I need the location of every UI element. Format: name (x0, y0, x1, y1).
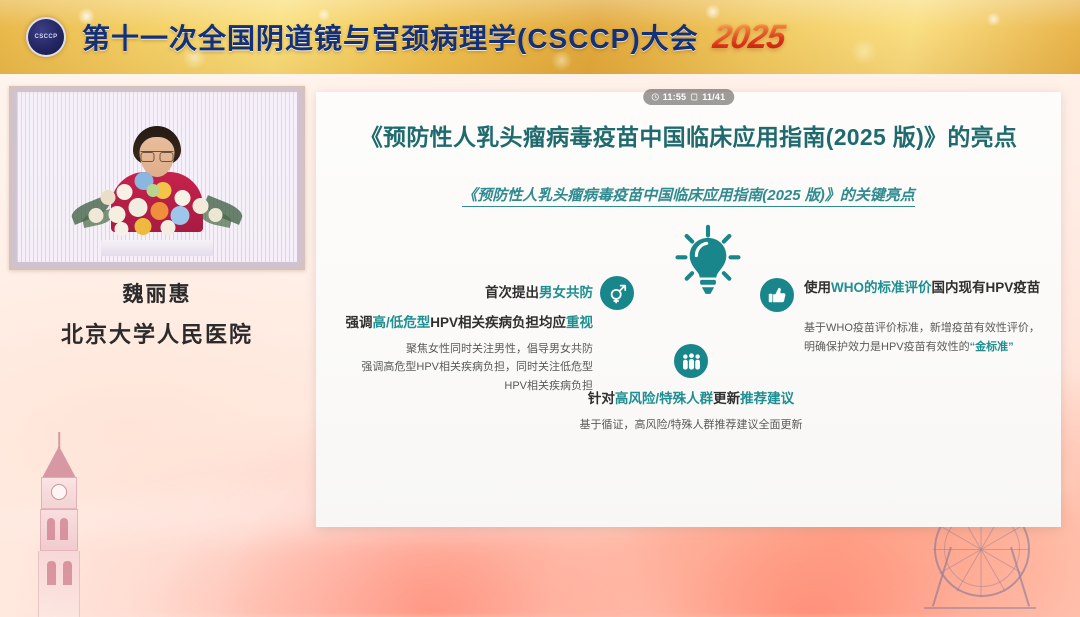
ferris-spoke (981, 550, 982, 598)
slide-title: 《预防性人乳头瘤病毒疫苗中国临床应用指南(2025 版)》的亮点 (316, 118, 1061, 152)
logo-label: CSCCP (34, 34, 57, 41)
speaker-name: 魏丽惠 (9, 278, 305, 308)
conference-banner: CSCCP 第十一次全国阴道镜与宫颈病理学(CSCCP)大会 2025 (0, 0, 1080, 74)
point-1-line2-c: HPV相关疾病负担均应 (430, 315, 566, 330)
ferris-spoke (933, 549, 981, 550)
slide-page-counter: 11/41 (702, 92, 725, 102)
point-2-sub-b: “金标准” (970, 341, 1014, 353)
point-3-head-b: 高风险/特殊人群 (615, 391, 713, 406)
flower-blossom (175, 190, 191, 206)
point-3-sub-line-1: 基于循证，高风险/特殊人群推荐建议全面更新 (531, 416, 851, 435)
video-backdrop-screen (17, 92, 297, 262)
point-2-head-c: 国内现有HPV疫苗 (932, 280, 1041, 295)
speaker-video[interactable] (9, 86, 305, 270)
point-high-risk-special-population: 针对高风险/特殊人群更新推荐建议 基于循证，高风险/特殊人群推荐建议全面更新 (531, 344, 851, 434)
lightbulb-icon (668, 222, 748, 300)
point-1-line2-d: 重视 (566, 315, 593, 330)
point-2-sub-line-1: 基于WHO疫苗评价标准，新增疫苗有效性评价， (804, 319, 1055, 338)
tower-window (63, 561, 72, 585)
point-2-head-b: WHO的标准评价 (831, 280, 932, 295)
slide-subtitle-text: 《预防性人乳头瘤病毒疫苗中国临床应用指南(2025 版)》的关键亮点 (462, 187, 915, 207)
speaker-glasses (141, 151, 174, 159)
speaker-figure (126, 126, 188, 166)
ferris-base (924, 607, 1036, 609)
point-2-head-a: 使用 (804, 280, 831, 295)
page-icon (690, 93, 698, 101)
point-1-line2-b: 高/低危型 (372, 315, 430, 330)
flower-blossom (209, 208, 223, 222)
tower-window (47, 561, 56, 585)
three-people-icon (674, 344, 708, 378)
speaker-info: 魏丽惠 北京大学人民医院 (9, 278, 305, 349)
ferris-spoke (981, 549, 1029, 550)
tower-window (60, 518, 68, 540)
flower-blossom (135, 218, 152, 235)
point-2-headline: 使用WHO的标准评价国内现有HPV疫苗 (804, 278, 1040, 298)
point-1-line2-a: 强调 (345, 315, 372, 330)
point-3-headline: 针对高风险/特殊人群更新推荐建议 (531, 389, 851, 409)
clock-icon (651, 93, 659, 101)
flower-blossom (129, 198, 148, 217)
point-1-headline-line-2: 强调高/低危型HPV相关疾病负担均应重视 (324, 313, 634, 333)
slide-progress-badge: 11:55 11/41 (643, 89, 735, 105)
point-3-description: 基于循证，高风险/特殊人群推荐建议全面更新 (531, 416, 851, 435)
tower-base-stage (38, 551, 80, 617)
slide-elapsed-time: 11:55 (663, 92, 687, 102)
tower-clock-face (51, 484, 67, 500)
flower-blossom (115, 222, 129, 236)
conference-title: 第十一次全国阴道镜与宫颈病理学(CSCCP)大会 (82, 17, 699, 57)
tower-roof (42, 446, 76, 478)
point-1-head-b: 男女共防 (539, 285, 593, 300)
speaker-organization: 北京大学人民医院 (9, 317, 305, 349)
live-stream-screen: CSCCP 第十一次全国阴道镜与宫颈病理学(CSCCP)大会 2025 (0, 0, 1080, 617)
flower-blossom (117, 184, 133, 200)
flower-blossom (89, 208, 104, 223)
slide-subtitle: 《预防性人乳头瘤病毒疫苗中国临床应用指南(2025 版)》的关键亮点 (316, 184, 1061, 205)
point-3-head-c: 更新 (713, 391, 740, 406)
flower-blossom (161, 220, 176, 235)
point-1-headline-line-1: 首次提出男女共防 (485, 283, 593, 303)
point-3-head-d: 推荐建议 (740, 391, 794, 406)
thumbs-up-icon (760, 278, 794, 312)
csccp-logo-icon: CSCCP (26, 17, 66, 57)
flower-blossom (101, 190, 116, 205)
clock-tower-illustration (38, 432, 80, 617)
flower-blossom (151, 202, 169, 220)
point-1-head-a: 首次提出 (485, 285, 539, 300)
presentation-slide[interactable]: 11:55 11/41 《预防性人乳头瘤病毒疫苗中国临床应用指南(2025 版)… (316, 92, 1061, 527)
conference-year: 2025 (710, 18, 787, 57)
flower-arrangement (65, 168, 250, 246)
tower-window (47, 518, 55, 540)
flower-blossom (193, 198, 209, 214)
flower-blossom (147, 184, 160, 197)
point-3-head-a: 针对 (588, 391, 615, 406)
flower-blossom (109, 206, 126, 223)
tower-mid-stage (40, 509, 78, 551)
gender-symbols-icon (600, 276, 634, 310)
